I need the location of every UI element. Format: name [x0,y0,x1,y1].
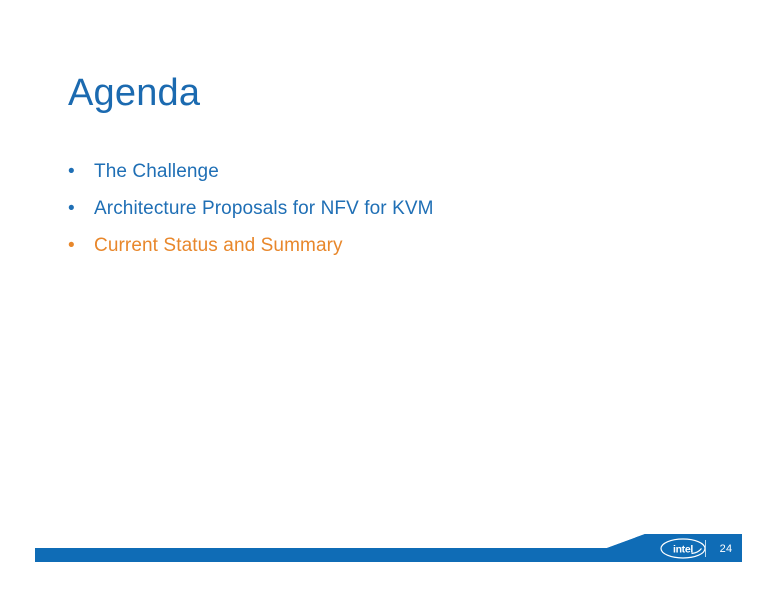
bullet-dot-icon: • [68,234,94,258]
bullet-dot-icon: • [68,197,94,221]
agenda-bullet-list: • The Challenge • Architecture Proposals… [68,160,708,271]
bullet-dot-icon: • [68,160,94,184]
page-number: 24 [712,541,740,557]
page-title: Agenda [68,70,200,116]
svg-text:intel: intel [673,544,693,556]
intel-logo-icon: intel [660,538,706,559]
list-item-label: Current Status and Summary [94,234,343,258]
list-item-label: The Challenge [94,160,219,184]
list-item[interactable]: • Architecture Proposals for NFV for KVM [68,197,708,234]
footer-divider [705,540,706,557]
list-item-label: Architecture Proposals for NFV for KVM [94,197,434,221]
list-item[interactable]: • The Challenge [68,160,708,197]
slide-canvas: Agenda • The Challenge • Architecture Pr… [0,0,776,600]
list-item[interactable]: • Current Status and Summary [68,234,708,271]
